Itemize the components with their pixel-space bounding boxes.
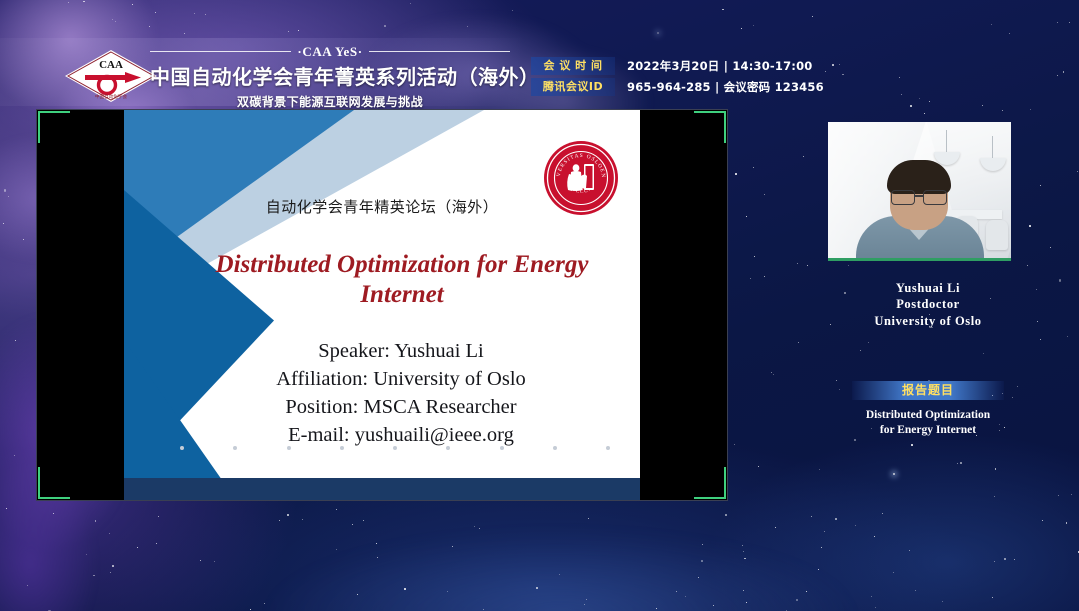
slide-speaker: Speaker: Yushuai Li xyxy=(182,337,620,365)
slide-dot-row xyxy=(180,446,610,450)
speaker-role: Postdoctor xyxy=(828,296,1028,312)
share-corner-top-right xyxy=(694,111,726,143)
slide-dot xyxy=(606,446,610,450)
share-corner-bottom-right xyxy=(694,467,726,499)
speaker-video-tile[interactable] xyxy=(828,122,1011,261)
slide-dot xyxy=(446,446,450,450)
event-subtitle: 双碳背景下能源互联网发展与挑战 xyxy=(150,93,510,110)
slide-title-line1: Distributed Optimization for Energy xyxy=(188,250,616,280)
topic-banner: 报告题目 xyxy=(852,381,1004,400)
rule-right xyxy=(369,51,510,52)
slide-title-line2: Internet xyxy=(188,280,616,310)
shared-screen-frame[interactable]: UNIVERSITAS OSLOENSIS MDCCCXI 自动化学会青年精英论… xyxy=(36,109,728,501)
meeting-time-label: 会 议 时 间 xyxy=(531,57,615,75)
meeting-id-row: 腾讯会议ID 965-964-285 | 会议密码 123456 xyxy=(531,78,824,96)
speaker-info: Yushuai Li Postdoctor University of Oslo xyxy=(828,280,1028,329)
presentation-slide: UNIVERSITAS OSLOENSIS MDCCCXI 自动化学会青年精英论… xyxy=(124,110,640,500)
slide-dot xyxy=(500,446,504,450)
slide-dot xyxy=(180,446,184,450)
share-corner-top-left xyxy=(38,111,70,143)
slide-dot xyxy=(393,446,397,450)
topic-line2: for Energy Internet xyxy=(828,423,1028,438)
slide-affiliation: Affiliation: University of Oslo xyxy=(182,365,620,393)
svg-text:CAA: CAA xyxy=(99,59,123,71)
chair-shape xyxy=(986,220,1008,250)
topic-line1: Distributed Optimization xyxy=(828,408,1028,423)
speaker-name: Yushuai Li xyxy=(828,280,1028,296)
topic-text: Distributed Optimization for Energy Inte… xyxy=(828,408,1028,438)
slide-speaker-block: Speaker: Yushuai Li Affiliation: Univers… xyxy=(182,337,620,449)
slide-title: Distributed Optimization for Energy Inte… xyxy=(188,250,616,309)
slide-org-line: 自动化学会青年精英论坛（海外） xyxy=(124,196,640,217)
meeting-time-value: 2022年3月20日 | 14:30-17:00 xyxy=(627,58,813,74)
glasses-left-lens xyxy=(891,190,915,205)
rule-left xyxy=(150,51,291,52)
glasses-right-lens xyxy=(923,190,947,205)
caa-logo: CAA 中国自动化学会 xyxy=(63,48,159,104)
meeting-id-value: 965-964-285 | 会议密码 123456 xyxy=(627,79,824,95)
event-main-title: 中国自动化学会青年菁英系列活动（海外） xyxy=(150,61,510,90)
meeting-stage: CAA 中国自动化学会 ·CAA YeS· 中国自动化学会青年菁英系列活动（海外… xyxy=(0,0,1079,611)
meeting-id-label: 腾讯会议ID xyxy=(531,78,615,96)
slide-dot xyxy=(340,446,344,450)
slide-dot xyxy=(553,446,557,450)
speaker-organization: University of Oslo xyxy=(828,313,1028,329)
meeting-time-row: 会 议 时 间 2022年3月20日 | 14:30-17:00 xyxy=(531,57,824,75)
svg-text:中国自动化学会: 中国自动化学会 xyxy=(95,93,128,100)
glasses-icon xyxy=(890,190,948,203)
person-hair xyxy=(887,160,951,194)
slide-dot xyxy=(287,446,291,450)
caa-yes-row: ·CAA YeS· xyxy=(150,44,510,59)
slide-footer-bar xyxy=(124,478,640,500)
meeting-info: 会 议 时 间 2022年3月20日 | 14:30-17:00 腾讯会议ID … xyxy=(531,57,824,96)
glasses-bridge xyxy=(914,195,923,197)
caa-yes-label: ·CAA YeS· xyxy=(297,44,362,60)
share-corner-bottom-left xyxy=(38,467,70,499)
slide-dot xyxy=(233,446,237,450)
slide-position: Position: MSCA Researcher xyxy=(182,393,620,421)
event-title-block: ·CAA YeS· 中国自动化学会青年菁英系列活动（海外） 双碳背景下能源互联网… xyxy=(150,44,510,110)
